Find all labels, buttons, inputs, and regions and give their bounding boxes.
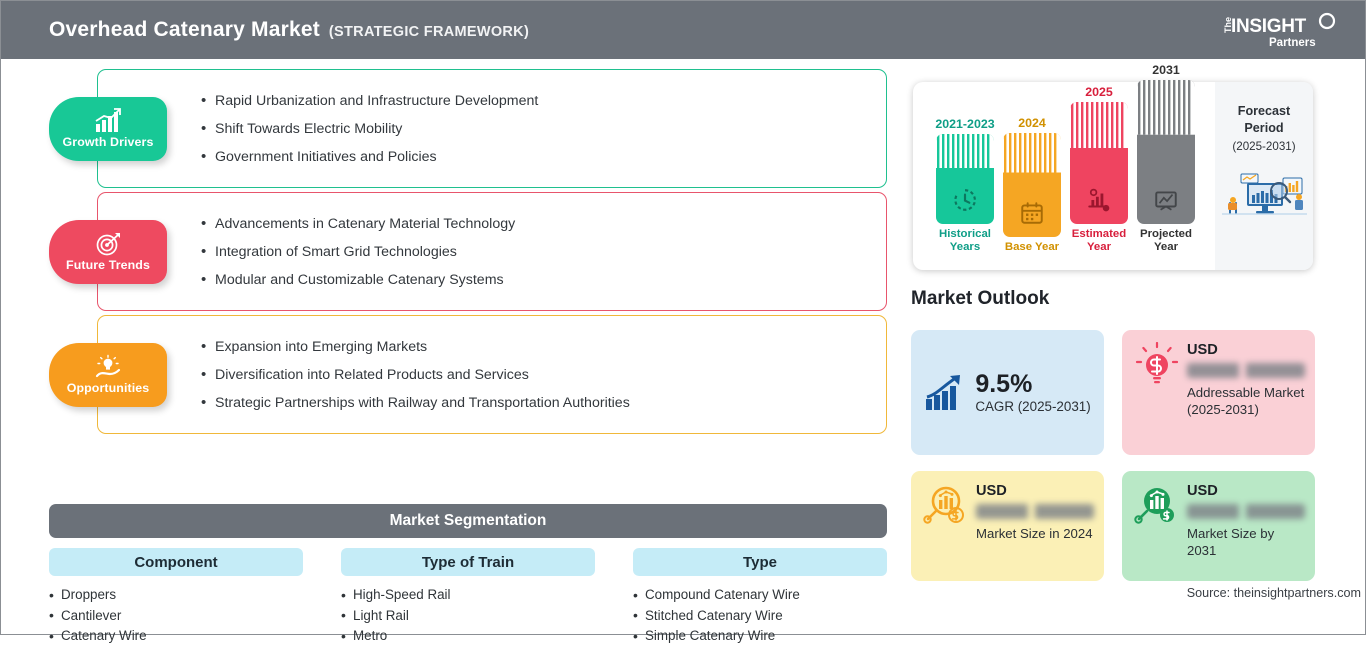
- badge-label: Growth Drivers: [63, 135, 154, 149]
- bar-caption: Historical Years: [935, 228, 995, 254]
- redacted-value: [1187, 363, 1305, 378]
- market-infographic-page: { "header": { "title": "Overhead Catenar…: [0, 0, 1366, 635]
- hand-lightbulb-icon: [94, 354, 122, 380]
- segmentation-columns: Component Droppers Cantilever Catenary W…: [49, 548, 887, 647]
- currency-label: USD: [976, 483, 1094, 499]
- list-item: Strategic Partnerships with Railway and …: [201, 389, 630, 417]
- list-item: Advancements in Catenary Material Techno…: [201, 210, 515, 238]
- list-item: Simple Catenary Wire: [633, 626, 887, 647]
- segment-chip-type[interactable]: Type: [633, 548, 887, 576]
- badge-label: Future Trends: [66, 258, 150, 272]
- right-column: 2021-2023: [906, 59, 1361, 635]
- segmentation-column-type: Type Compound Catenary Wire Stitched Cat…: [633, 548, 887, 647]
- bar-stripe-pattern: [1003, 133, 1061, 173]
- logo-partners-text: Partners: [1269, 37, 1316, 49]
- list-item: Droppers: [49, 585, 303, 606]
- chart-bar-historical: 2021-2023: [935, 117, 995, 254]
- logo-insight-text: INSIGHT: [1231, 16, 1307, 37]
- chart-bar-base: 2024: [1002, 116, 1062, 254]
- list-item: Diversification into Related Products an…: [201, 361, 630, 389]
- list-item: Government Initiatives and Policies: [201, 143, 538, 171]
- bar-year-label: 2024: [1002, 116, 1062, 130]
- currency-label: USD: [1187, 483, 1305, 499]
- currency-label: USD: [1187, 342, 1305, 358]
- bar-stripe-pattern: [1070, 102, 1128, 148]
- cagr-value: 9.5%: [975, 370, 1090, 398]
- pillar-future-trends: Future Trends Advancements in Catenary M…: [97, 192, 887, 311]
- logo-circle-icon: [1320, 14, 1334, 28]
- bar-body: [936, 134, 994, 224]
- bar-stripe-pattern: [936, 134, 994, 168]
- outlook-card-cagr[interactable]: 9.5% CAGR (2025-2031): [911, 330, 1104, 455]
- market-segmentation-header: Market Segmentation: [49, 504, 887, 538]
- badge-growth-drivers[interactable]: Growth Drivers: [49, 97, 167, 161]
- outlook-card-body: USD Addressable Market (2025-2031): [1187, 342, 1305, 418]
- forecast-period-title: Forecast Period: [1238, 103, 1291, 137]
- card-label: Market Size in 2024: [976, 525, 1094, 542]
- pillar-list-future-trends: Advancements in Catenary Material Techno…: [201, 210, 515, 294]
- bar-stripe-pattern: [1137, 80, 1195, 135]
- chart-bar-estimated: 2025: [1069, 85, 1129, 254]
- forecast-title-line1: Forecast: [1238, 104, 1291, 118]
- list-item: Cantilever: [49, 606, 303, 627]
- list-item: Light Rail: [341, 606, 595, 627]
- chart-bars: 2021-2023: [935, 82, 1165, 270]
- list-item: Expansion into Emerging Markets: [201, 333, 630, 361]
- list-item: Stitched Catenary Wire: [633, 606, 887, 627]
- badge-label: Opportunities: [67, 381, 150, 395]
- bar-body: [1003, 133, 1061, 237]
- list-item: High-Speed Rail: [341, 585, 595, 606]
- card-label: Addressable Market (2025-2031): [1187, 384, 1305, 418]
- lightbulb-dollar-icon: [1134, 342, 1178, 388]
- bar-year-label: 2031: [1136, 63, 1196, 77]
- target-dart-icon: [94, 231, 122, 257]
- bar-body: [1070, 102, 1128, 224]
- projection-screen-icon: [1153, 187, 1179, 213]
- redacted-value: [976, 504, 1094, 519]
- source-attribution: Source: theinsightpartners.com: [1187, 586, 1361, 600]
- segment-list-type: Compound Catenary Wire Stitched Catenary…: [633, 585, 887, 647]
- pillar-list-growth-drivers: Rapid Urbanization and Infrastructure De…: [201, 87, 538, 171]
- list-item: Rapid Urbanization and Infrastructure De…: [201, 87, 538, 115]
- badge-future-trends[interactable]: Future Trends: [49, 220, 167, 284]
- forecast-period-panel: Forecast Period (2025-2031): [1215, 82, 1313, 270]
- forecast-period-chart: 2021-2023: [913, 82, 1313, 270]
- chart-estimate-icon: [1086, 187, 1112, 213]
- segment-chip-type-of-train[interactable]: Type of Train: [341, 548, 595, 576]
- list-item: Modular and Customizable Catenary System…: [201, 266, 515, 294]
- forecast-period-range: (2025-2031): [1232, 140, 1295, 153]
- segment-chip-component[interactable]: Component: [49, 548, 303, 576]
- chart-bar-projected: 2031: [1136, 63, 1196, 254]
- page-header: Overhead Catenary Market (STRATEGIC FRAM…: [1, 1, 1365, 59]
- page-subtitle: (STRATEGIC FRAMEWORK): [329, 24, 529, 40]
- bar-year-label: 2021-2023: [935, 117, 995, 131]
- outlook-card-body: 9.5% CAGR (2025-2031): [975, 370, 1090, 415]
- bar-caption: Estimated Year: [1069, 228, 1129, 254]
- magnifier-chart-dollar-icon: [1134, 483, 1178, 527]
- market-outlook-title: Market Outlook: [911, 288, 1049, 310]
- bar-caption: Projected Year: [1136, 228, 1196, 254]
- cagr-label: CAGR (2025-2031): [975, 398, 1090, 415]
- data-analytics-illustration: [1217, 169, 1311, 221]
- outlook-card-addressable-market[interactable]: USD Addressable Market (2025-2031): [1122, 330, 1315, 455]
- pillar-list-opportunities: Expansion into Emerging Markets Diversif…: [201, 333, 630, 417]
- magnifier-chart-dollar-icon: [923, 483, 967, 527]
- pillar-opportunities: Opportunities Expansion into Emerging Ma…: [97, 315, 887, 434]
- outlook-card-market-size-2031[interactable]: USD Market Size by 2031: [1122, 471, 1315, 581]
- segmentation-column-component: Component Droppers Cantilever Catenary W…: [49, 548, 303, 647]
- bar-chart-growth-icon: [94, 108, 122, 134]
- list-item: Compound Catenary Wire: [633, 585, 887, 606]
- list-item: Integration of Smart Grid Technologies: [201, 238, 515, 266]
- left-column: Growth Drivers Rapid Urbanization and In…: [1, 59, 901, 635]
- badge-opportunities[interactable]: Opportunities: [49, 343, 167, 407]
- list-item: Metro: [341, 626, 595, 647]
- segment-list-component: Droppers Cantilever Catenary Wire: [49, 585, 303, 647]
- list-item: Shift Towards Electric Mobility: [201, 115, 538, 143]
- outlook-card-body: USD Market Size in 2024: [976, 483, 1094, 542]
- redacted-value: [1187, 504, 1305, 519]
- outlook-card-market-size-2024[interactable]: USD Market Size in 2024: [911, 471, 1104, 581]
- clock-history-icon: [952, 187, 978, 213]
- segment-list-type-of-train: High-Speed Rail Light Rail Metro: [341, 585, 595, 647]
- forecast-title-line2: Period: [1244, 121, 1283, 135]
- bar-body: [1137, 80, 1195, 224]
- insight-partners-logo: The INSIGHT Partners: [1217, 10, 1341, 52]
- segmentation-column-type-of-train: Type of Train High-Speed Rail Light Rail…: [341, 548, 595, 647]
- card-label: Market Size by 2031: [1187, 525, 1305, 559]
- list-item: Catenary Wire: [49, 626, 303, 647]
- bar-year-label: 2025: [1069, 85, 1129, 99]
- outlook-card-body: USD Market Size by 2031: [1187, 483, 1305, 559]
- pillar-growth-drivers: Growth Drivers Rapid Urbanization and In…: [97, 69, 887, 188]
- page-title: Overhead Catenary Market: [49, 18, 320, 42]
- calendar-icon: [1019, 200, 1045, 226]
- bar-chart-arrow-icon: [924, 373, 966, 413]
- bar-caption: Base Year: [1002, 241, 1062, 254]
- header-title-wrap: Overhead Catenary Market (STRATEGIC FRAM…: [49, 18, 529, 42]
